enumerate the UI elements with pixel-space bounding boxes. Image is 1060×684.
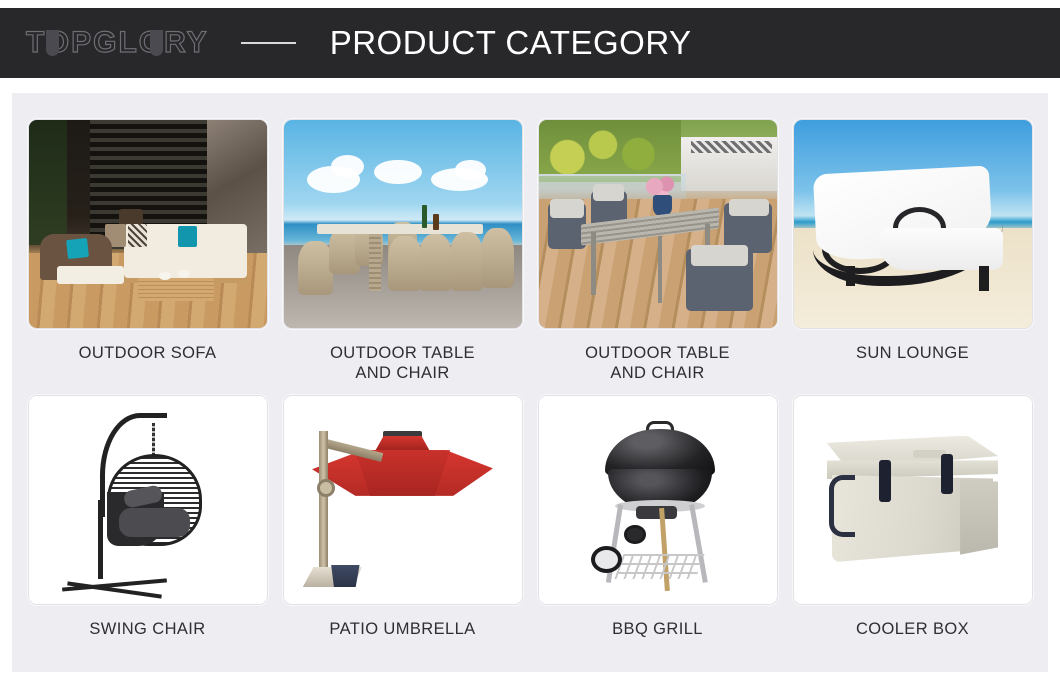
category-label: OUTDOOR SOFA [79, 343, 217, 363]
outdoor-sofa-photo [29, 120, 267, 328]
product-category-page: TOPGLORY PRODUCT CATEGORY [0, 0, 1060, 684]
outdoor-table-and-chair-beach-photo [284, 120, 522, 328]
category-label: PATIO UMBRELLA [329, 619, 475, 639]
logo-accent-o1 [46, 30, 59, 56]
category-card-outdoor-sofa[interactable]: OUTDOOR SOFA [20, 119, 275, 383]
category-thumbnail[interactable] [793, 119, 1033, 329]
sun-lounge-photo [794, 120, 1032, 328]
brand-logo[interactable]: TOPGLORY [26, 26, 209, 60]
category-label: OUTDOOR TABLE AND CHAIR [330, 343, 475, 383]
page-header: TOPGLORY PRODUCT CATEGORY [0, 8, 1060, 78]
category-card-sun-lounge[interactable]: SUN LOUNGE [785, 119, 1040, 383]
logo-accent-o2 [150, 30, 163, 56]
category-panel: OUTDOOR SOFA [12, 93, 1048, 672]
category-thumbnail[interactable] [283, 119, 523, 329]
patio-umbrella-photo [284, 396, 522, 604]
page-title: PRODUCT CATEGORY [330, 24, 692, 62]
category-label: SUN LOUNGE [856, 343, 969, 363]
category-label: SWING CHAIR [89, 619, 205, 639]
category-label: BBQ GRILL [612, 619, 703, 639]
category-grid: OUTDOOR SOFA [12, 93, 1048, 651]
category-card-outdoor-table-and-chair-beach[interactable]: OUTDOOR TABLE AND CHAIR [275, 119, 530, 383]
category-card-patio-umbrella[interactable]: PATIO UMBRELLA [275, 395, 530, 639]
category-thumbnail[interactable] [28, 395, 268, 605]
category-thumbnail[interactable] [538, 395, 778, 605]
category-thumbnail[interactable] [28, 119, 268, 329]
category-thumbnail[interactable] [793, 395, 1033, 605]
category-card-bbq-grill[interactable]: BBQ GRILL [530, 395, 785, 639]
category-label: COOLER BOX [856, 619, 969, 639]
category-card-outdoor-table-and-chair-deck[interactable]: OUTDOOR TABLE AND CHAIR [530, 119, 785, 383]
cooler-box-photo [794, 396, 1032, 604]
category-thumbnail[interactable] [538, 119, 778, 329]
outdoor-table-and-chair-deck-photo [539, 120, 777, 328]
bbq-grill-photo [539, 396, 777, 604]
category-card-cooler-box[interactable]: COOLER BOX [785, 395, 1040, 639]
header-divider-dash [241, 42, 296, 44]
swing-chair-photo [29, 396, 267, 604]
category-label: OUTDOOR TABLE AND CHAIR [585, 343, 730, 383]
category-card-swing-chair[interactable]: SWING CHAIR [20, 395, 275, 639]
category-thumbnail[interactable] [283, 395, 523, 605]
